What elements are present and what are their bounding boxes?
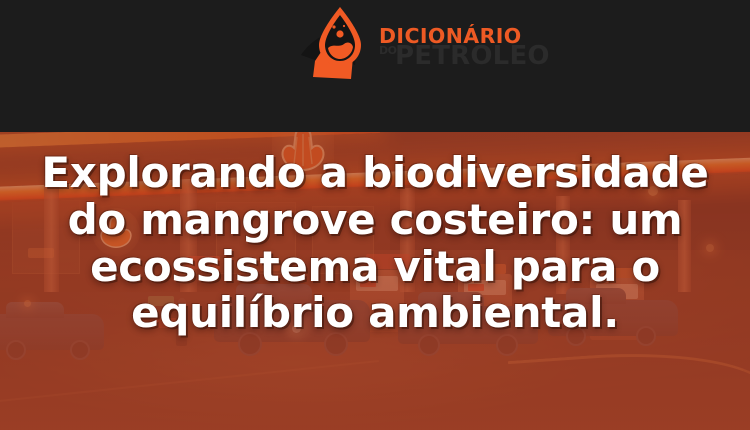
car-wheel [70,340,90,360]
car-wheel [6,340,26,360]
logo-line-petroleo: PETROLEO [395,46,550,68]
oil-drop-derrick-icon [295,3,385,87]
hero-title: Explorando a biodiversidade do mangrove … [0,150,750,337]
logo-wordmark: DICIONÁRIO DO PETROLEO [379,22,550,68]
logo-connector-do: DO [379,46,396,55]
hero-banner: DICIONÁRIO DO PETROLEO Explorando a biod… [0,0,750,430]
site-logo[interactable]: DICIONÁRIO DO PETROLEO [295,2,495,88]
